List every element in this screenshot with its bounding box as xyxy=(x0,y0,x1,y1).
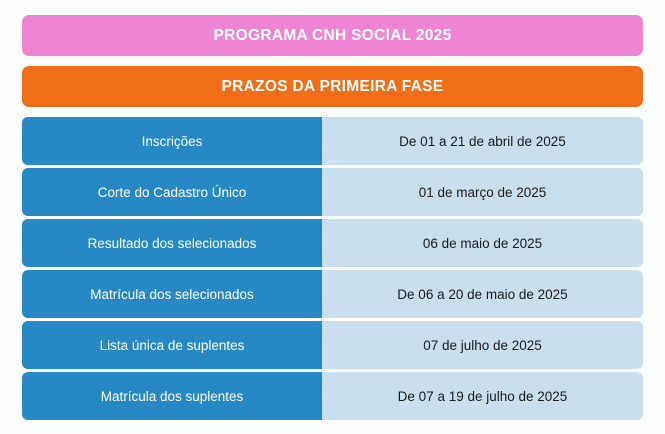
table-row: Corte do Cadastro Único 01 de março de 2… xyxy=(22,168,643,216)
row-label: Matrícula dos suplentes xyxy=(22,372,322,420)
cnh-social-timeline-infographic: PROGRAMA CNH SOCIAL 2025 PRAZOS DA PRIME… xyxy=(0,0,665,434)
row-label: Matrícula dos selecionados xyxy=(22,270,322,318)
deadlines-table: Inscrições De 01 a 21 de abril de 2025 C… xyxy=(22,117,643,420)
section-subtitle: PRAZOS DA PRIMEIRA FASE xyxy=(22,66,643,107)
table-row: Inscrições De 01 a 21 de abril de 2025 xyxy=(22,117,643,165)
table-row: Resultado dos selecionados 06 de maio de… xyxy=(22,219,643,267)
row-value: De 07 a 19 de julho de 2025 xyxy=(322,372,643,420)
row-label: Corte do Cadastro Único xyxy=(22,168,322,216)
table-row: Lista única de suplentes 07 de julho de … xyxy=(22,321,643,369)
row-label: Resultado dos selecionados xyxy=(22,219,322,267)
table-row: Matrícula dos suplentes De 07 a 19 de ju… xyxy=(22,372,643,420)
row-value: 06 de maio de 2025 xyxy=(322,219,643,267)
row-value: 07 de julho de 2025 xyxy=(322,321,643,369)
row-value: De 01 a 21 de abril de 2025 xyxy=(322,117,643,165)
row-label: Inscrições xyxy=(22,117,322,165)
page-title: PROGRAMA CNH SOCIAL 2025 xyxy=(22,15,643,56)
table-row: Matrícula dos selecionados De 06 a 20 de… xyxy=(22,270,643,318)
row-value: De 06 a 20 de maio de 2025 xyxy=(322,270,643,318)
row-label: Lista única de suplentes xyxy=(22,321,322,369)
row-value: 01 de março de 2025 xyxy=(322,168,643,216)
